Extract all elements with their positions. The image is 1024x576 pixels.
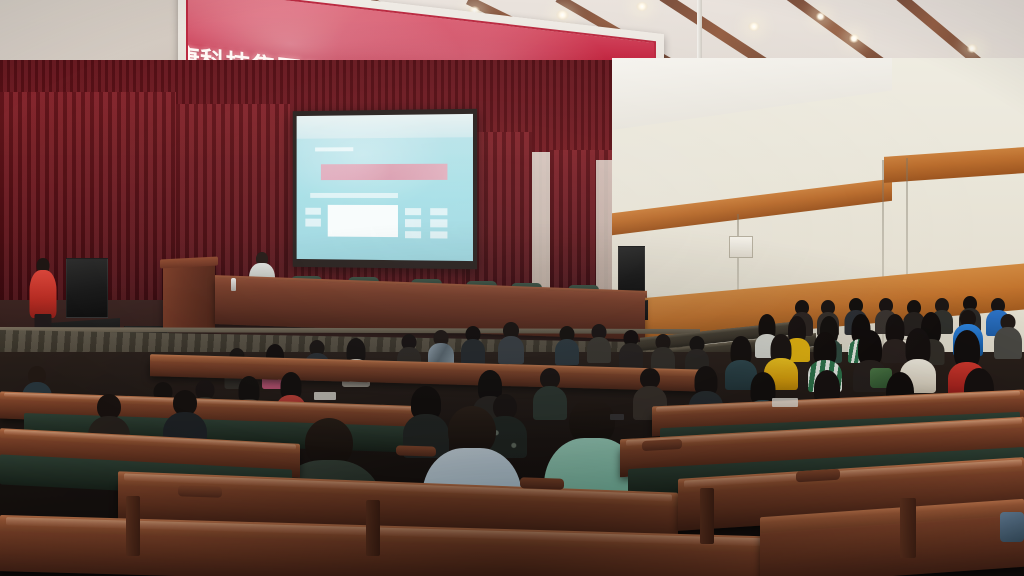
wall-gap-panel xyxy=(532,152,550,302)
audience-member xyxy=(588,324,610,362)
person-in-red-jacket xyxy=(28,258,58,338)
slide-label-cell xyxy=(430,208,448,215)
bench-armrest xyxy=(642,439,682,451)
bench-leg xyxy=(126,496,140,556)
papers-on-desk xyxy=(314,392,336,400)
ceiling-spotlight xyxy=(636,2,648,11)
slide-label-cell xyxy=(305,208,320,215)
bag-on-desk xyxy=(1000,512,1024,542)
red-jacket xyxy=(30,270,57,318)
torso xyxy=(555,339,579,365)
slide-label-cell xyxy=(430,231,448,238)
projected-slide xyxy=(297,114,473,261)
audience-member xyxy=(556,326,578,364)
bench-leg xyxy=(700,488,714,544)
ceiling-spotlight xyxy=(556,10,569,20)
slide-title-bar xyxy=(321,164,448,180)
audience-member xyxy=(996,314,1020,358)
torso xyxy=(461,339,485,365)
ceiling-spotlight xyxy=(748,22,760,31)
notebook-on-desk xyxy=(772,398,798,407)
torso xyxy=(587,337,611,363)
slide-label-cell xyxy=(405,231,421,238)
slide-label-cell xyxy=(405,219,421,226)
torso xyxy=(498,336,524,364)
bench-armrest xyxy=(520,477,564,490)
torso xyxy=(994,327,1022,359)
wall-access-panel xyxy=(729,236,753,258)
water-bottle xyxy=(231,278,236,291)
slide-label-cell xyxy=(305,219,320,226)
ceiling-spotlight xyxy=(848,34,860,43)
slide-label-cell xyxy=(405,208,421,215)
audience-member xyxy=(884,314,906,354)
slide-header-strip xyxy=(297,114,473,139)
speaker-cabinet-left xyxy=(66,258,108,318)
projection-screen xyxy=(293,109,477,269)
audience-member xyxy=(652,334,674,372)
audience-member xyxy=(500,322,522,360)
bench-leg xyxy=(900,498,916,558)
audience-member xyxy=(462,326,484,364)
audience-member xyxy=(620,330,642,368)
bench-armrest xyxy=(396,445,436,456)
bench-leg xyxy=(366,500,380,556)
phone-on-desk xyxy=(610,414,624,420)
bench-armrest xyxy=(178,485,222,498)
slide-label-cell xyxy=(430,220,448,227)
lectern xyxy=(163,262,215,330)
slide-subtitle-line xyxy=(310,193,397,198)
ceiling-spotlight xyxy=(815,12,826,21)
slide-text-line xyxy=(316,147,354,152)
torso xyxy=(619,343,643,369)
ceiling-spotlight xyxy=(966,44,978,53)
slide-content-block xyxy=(328,205,398,237)
auditorium-photo: 富士康科技集团FG次集团2017届毕业生校园招聘会 xyxy=(0,0,1024,576)
